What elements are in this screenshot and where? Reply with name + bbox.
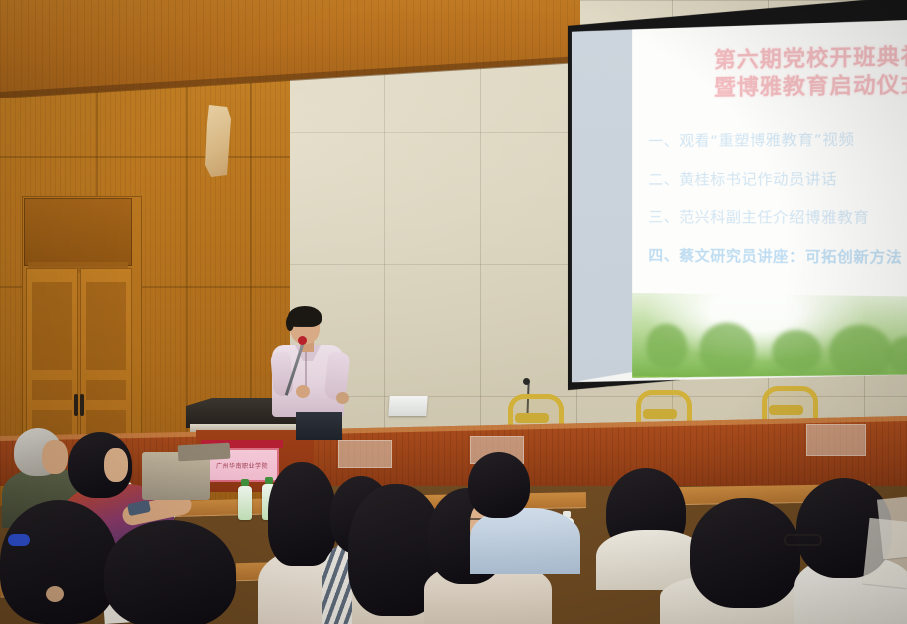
slide-agenda-item: 三、范兴科副主任介绍博雅教育 — [648, 211, 907, 227]
glasses-icon — [784, 534, 822, 546]
audience-head — [0, 500, 118, 624]
audience-head — [104, 520, 236, 624]
podium-sign-text: 广州华南职业学院 — [216, 461, 268, 470]
stacked-papers — [877, 497, 907, 560]
speaker-hand — [296, 385, 310, 398]
slide-agenda-item: 四、蔡文研究员讲座：可拓创新方法 — [648, 249, 907, 266]
table-placard — [806, 424, 866, 456]
audience-face — [42, 440, 68, 474]
water-bottle[interactable] — [238, 486, 252, 520]
audience-head — [690, 498, 800, 608]
slide-agenda-list: 一、观看“重塑博雅教育”视频 二、黄桂标书记作动员讲话 三、范兴科副主任介绍博雅… — [648, 133, 907, 291]
slide-title-line-2: 暨博雅教育启动仪式 — [652, 71, 907, 103]
speaker-trousers — [296, 412, 342, 440]
speaker-hand-right — [336, 392, 349, 404]
wall-light-patch — [205, 105, 231, 177]
microphone-head-icon — [298, 336, 307, 345]
audience-head — [468, 452, 530, 518]
audience-face — [104, 448, 128, 482]
speaker-shirt-placket — [305, 352, 307, 386]
slide-title: 第六期党校开班典礼 暨博雅教育启动仪式 — [652, 43, 907, 103]
table-placard — [338, 440, 392, 468]
hair-tie — [8, 534, 30, 546]
audience-head — [268, 462, 336, 566]
slide-title-line-1: 第六期党校开班典礼 — [652, 43, 907, 76]
equipment-cover — [178, 443, 231, 462]
glasses-icon — [292, 326, 312, 332]
projection-screen: 第六期党校开班典礼 暨博雅教育启动仪式 一、观看“重塑博雅教育”视频 二、黄桂标… — [562, 0, 907, 404]
stage-chair[interactable] — [636, 390, 692, 425]
audience-shoulders — [470, 508, 580, 574]
stage-chair[interactable] — [762, 386, 818, 421]
door-handle-right[interactable] — [80, 394, 84, 416]
door-transom — [24, 198, 132, 266]
audience-ear — [46, 586, 64, 602]
wall-seam — [0, 156, 290, 158]
screen-blank-margin — [572, 26, 634, 388]
projected-slide: 第六期党校开班典礼 暨博雅教育启动仪式 一、观看“重塑博雅教育”视频 二、黄桂标… — [632, 19, 907, 393]
lecture-hall-photo: 第六期党校开班典礼 暨博雅教育启动仪式 一、观看“重塑博雅教育”视频 二、黄桂标… — [0, 0, 907, 624]
microphone-icon — [523, 378, 530, 385]
slide-agenda-item: 一、观看“重塑博雅教育”视频 — [648, 133, 907, 150]
laptop-computer[interactable] — [388, 396, 427, 416]
door-handle-left[interactable] — [74, 394, 78, 416]
slide-agenda-item: 二、黄桂标书记作动员讲话 — [648, 172, 907, 188]
